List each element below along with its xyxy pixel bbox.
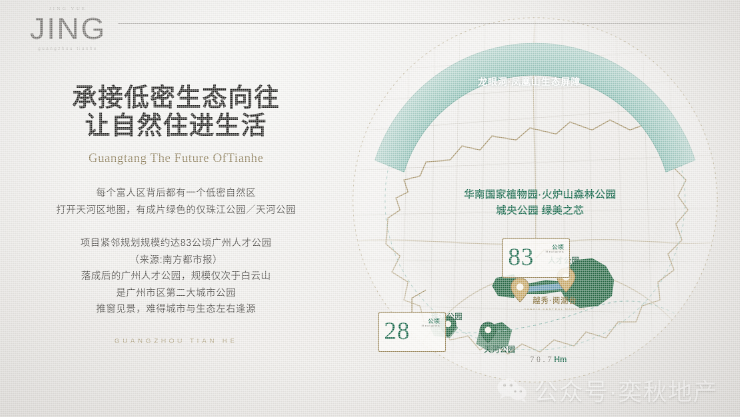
paragraph2-line1: 项目紧邻规划规模约达83公顷广州人才公园 <box>0 236 352 253</box>
badge-28-unit-en: Hectares <box>422 324 440 328</box>
paragraph2-line2: （来源:南方都市报） <box>0 253 352 270</box>
footer-en: GUANGZHOU TIAN HE <box>0 338 352 345</box>
badge-28-value: 28 <box>384 316 410 348</box>
badge-83-unit-en: Hectares <box>546 250 564 254</box>
left-content-column: 承接低密生态向往 让自然住进生活 Guangtang The Future Of… <box>0 84 352 345</box>
paragraph2-line3: 落成后的广州人才公园，规模仅次于白云山 <box>0 269 352 286</box>
paragraph1-line1: 每个富人区背后都有一个低密自然区 <box>0 186 352 203</box>
paragraph-two: 项目紧邻规划规模约达83公顷广州人才公园 （来源:南方都市报） 落成后的广州人才… <box>0 236 352 319</box>
area-badge-83: 83 公顷 Hectares <box>502 238 570 278</box>
subtitle-en: Guangtang The Future OfTianhe <box>0 151 352 166</box>
brand-logo-sub: guangzhou tianhe <box>18 45 118 52</box>
header-divider <box>118 23 730 24</box>
brand-logo: JING YUE JING guangzhou tianhe <box>18 6 118 52</box>
map-illustration: 龙眼洞·凤凰山生态屏障 华南国家植物园·火炉山森林公园 城央公园 绿美之芯 人才… <box>330 10 740 410</box>
page-title: 承接低密生态向往 让自然住进生活 <box>0 84 352 140</box>
badge-83-value: 83 <box>508 242 534 274</box>
headline-line1: 承接低密生态向往 <box>72 84 280 112</box>
area-badge-28: 28 公顷 Hectares <box>378 312 446 352</box>
paragraph1-line2: 打开天河区地图，有成片绿色的仅珠江公园／天河公园 <box>0 203 352 220</box>
watermark-text: 公众号·奕秋地产 <box>534 372 718 407</box>
watermark: 公众号·奕秋地产 <box>497 372 718 407</box>
headline-line2: 让自然住进生活 <box>0 112 352 140</box>
paragraph2-line5: 推窗见景，难得城市与生态左右逢源 <box>0 302 352 319</box>
wechat-icon <box>497 377 527 403</box>
poster-canvas: 龙眼洞·凤凰山生态屏障 华南国家植物园·火炉山森林公园 城央公园 绿美之芯 人才… <box>0 0 740 417</box>
brand-logo-main: JING <box>18 12 118 45</box>
paragraph2-line4: 是广州市区第二大城市公园 <box>0 286 352 303</box>
paragraph-one: 每个富人区背后都有一个低密自然区 打开天河区地图，有成片绿色的仅珠江公园／天河公… <box>0 186 352 219</box>
